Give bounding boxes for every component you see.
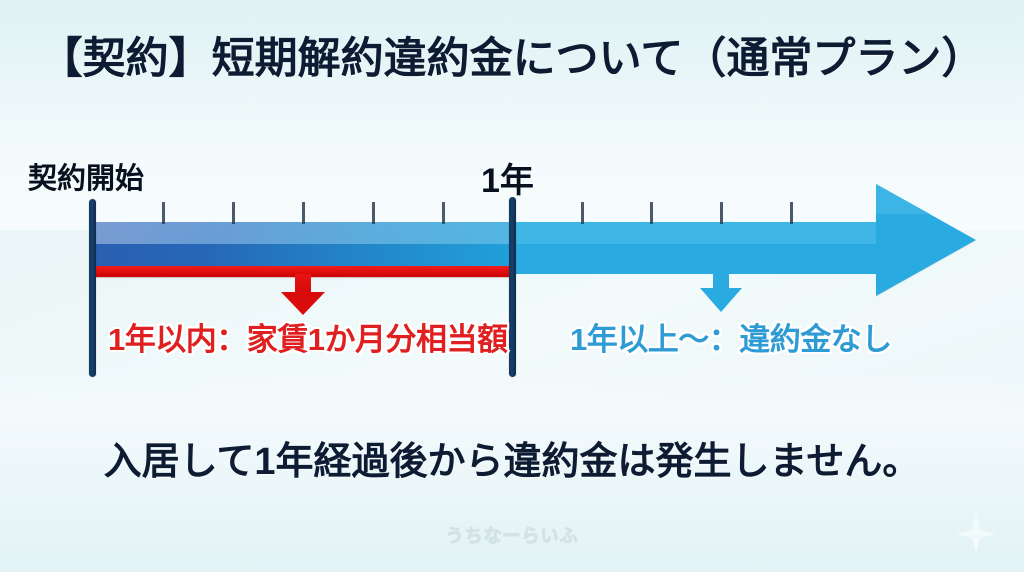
timeline-milestone-label: 1年 bbox=[481, 153, 534, 202]
conclusion-text: 入居して1年経過後から違約金は発生しません。 bbox=[0, 430, 1024, 485]
timeline-band-left-middle bbox=[93, 244, 512, 266]
timeline-one-year-marker bbox=[509, 197, 516, 377]
timeline-band-left-top bbox=[93, 222, 512, 244]
page-title: 【契約】短期解約違約金について（通常プラン） bbox=[0, 24, 1024, 86]
timeline-tick bbox=[442, 202, 445, 224]
penalty-period-bar bbox=[93, 266, 512, 277]
timeline-start-marker bbox=[89, 199, 96, 377]
timeline-tick bbox=[790, 202, 793, 224]
sparkle-icon bbox=[954, 512, 998, 556]
timeline-band-right-middle bbox=[512, 244, 882, 274]
red-down-arrow-icon bbox=[281, 292, 325, 315]
penalty-caption: 1年以内：家賃1か月分相当額 bbox=[108, 314, 507, 359]
timeline-band-right-top bbox=[512, 222, 882, 244]
timeline-tick bbox=[162, 202, 165, 224]
timeline-tick bbox=[650, 202, 653, 224]
timeline-start-label: 契約開始 bbox=[28, 155, 144, 197]
timeline-tick bbox=[302, 202, 305, 224]
timeline-tick bbox=[581, 202, 584, 224]
timeline-arrow-head-highlight bbox=[876, 184, 930, 214]
red-down-arrow-stem bbox=[295, 274, 311, 294]
timeline-arrow-head-icon bbox=[876, 184, 976, 296]
slide-canvas: 【契約】短期解約違約金について（通常プラン） 契約開始 1年 1年以内：家賃1か… bbox=[0, 0, 1024, 572]
blue-down-arrow-icon bbox=[700, 288, 742, 312]
no-penalty-caption: 1年以上～：違約金なし bbox=[570, 314, 892, 359]
watermark-text: うちなーらいふ bbox=[0, 522, 1024, 548]
timeline-tick bbox=[232, 202, 235, 224]
blue-down-arrow-stem bbox=[713, 268, 729, 290]
timeline-tick bbox=[720, 202, 723, 224]
timeline-tick bbox=[372, 202, 375, 224]
